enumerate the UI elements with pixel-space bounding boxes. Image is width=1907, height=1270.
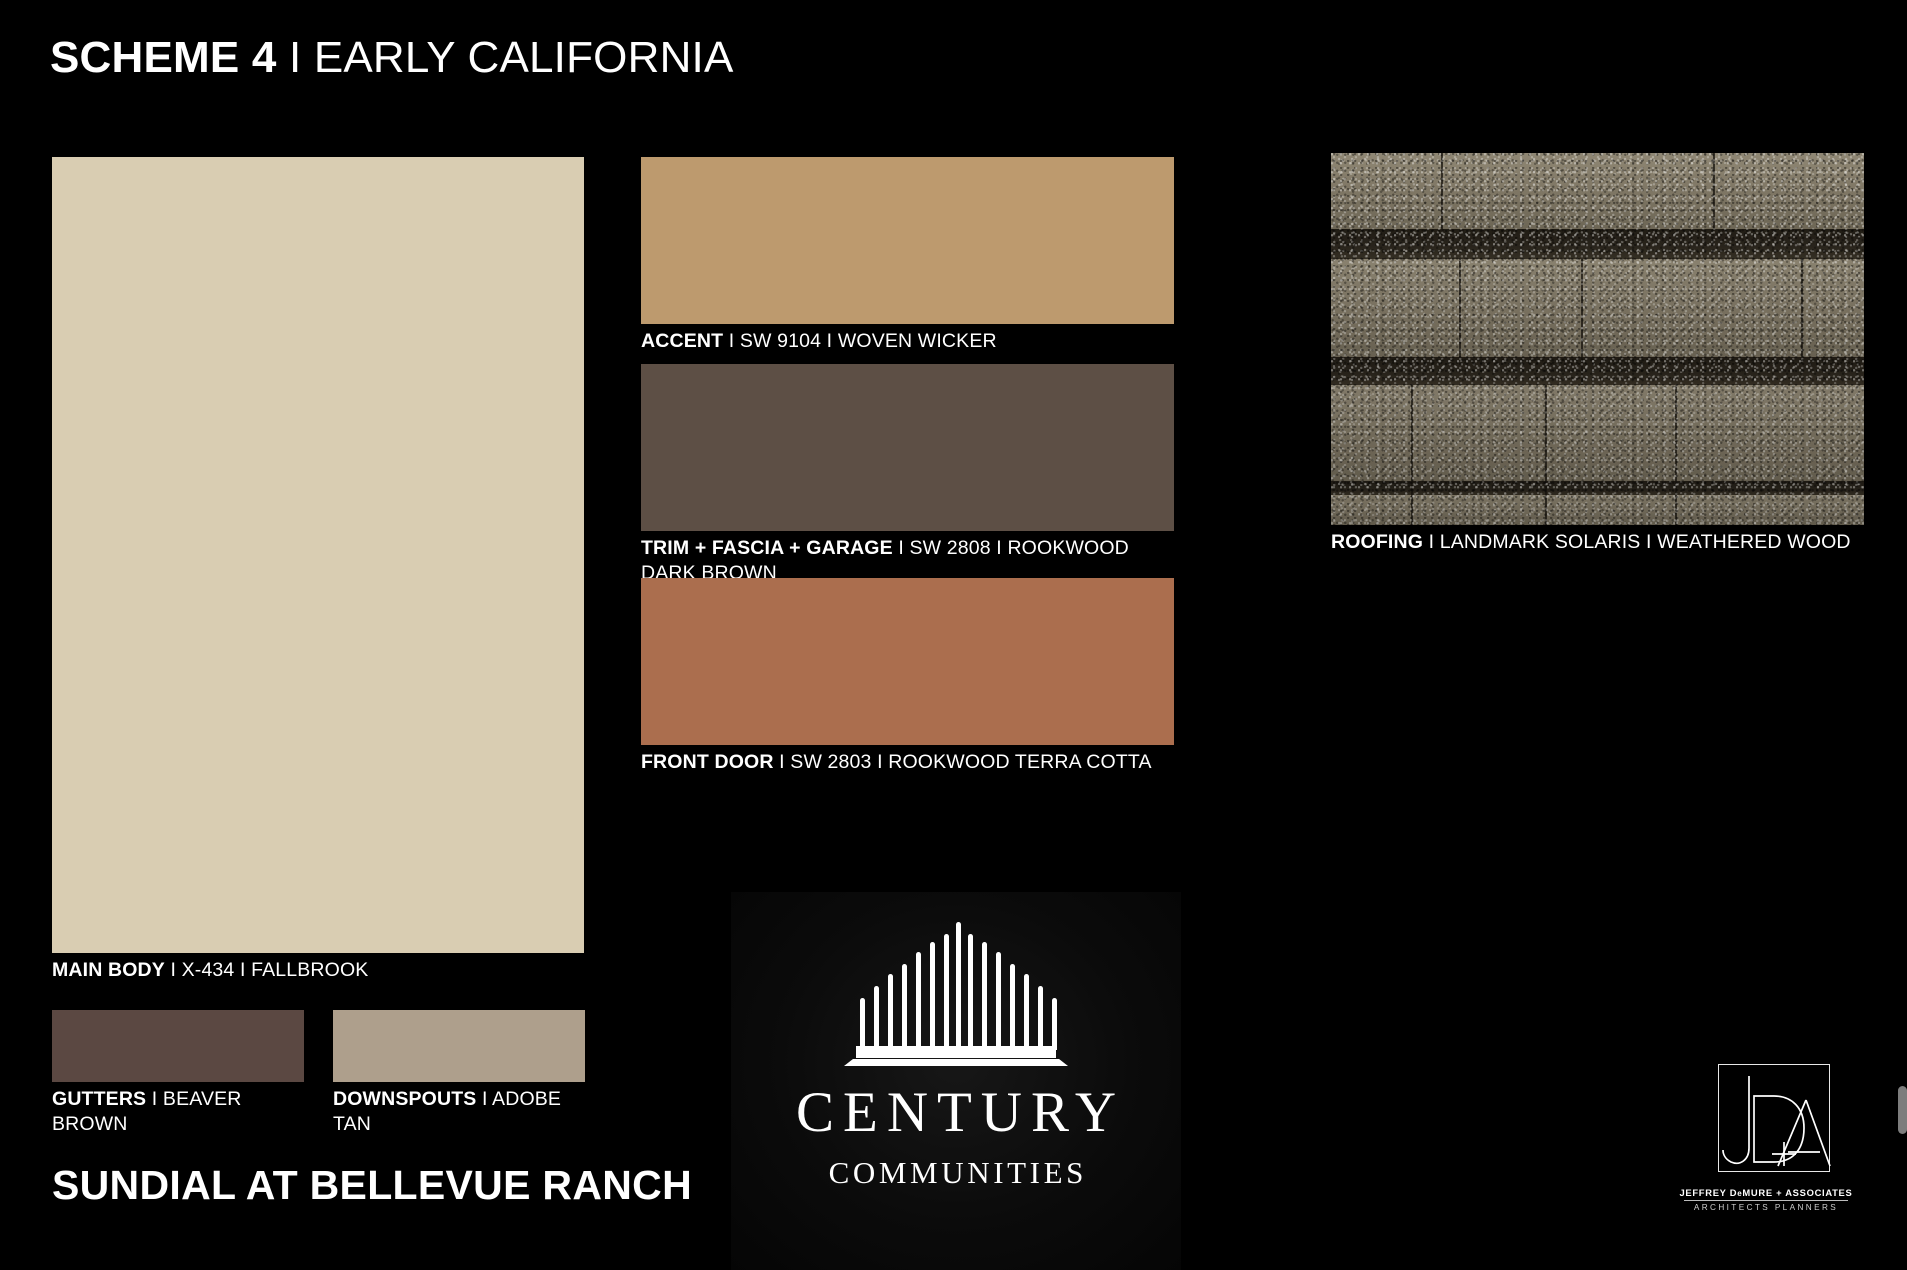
jda-monogram-icon bbox=[1696, 1062, 1836, 1182]
swatch-front-door[interactable]: FRONT DOOR I SW 2803 I ROOKWOOD TERRA CO… bbox=[641, 578, 1174, 775]
swatch-main-body[interactable]: MAIN BODY I X-434 I FALLBROOK bbox=[52, 157, 584, 983]
page-title: SCHEME 4 I EARLY CALIFORNIA bbox=[50, 33, 734, 83]
swatch-caption-main-body: MAIN BODY I X-434 I FALLBROOK bbox=[52, 953, 584, 983]
architect-discipline: ARCHITECTS PLANNERS bbox=[1668, 1203, 1864, 1212]
architect-firm-name: JEFFREY DeMURE + ASSOCIATES bbox=[1668, 1187, 1864, 1198]
architect-logo-jda: JEFFREY DeMURE + ASSOCIATES ARCHITECTS P… bbox=[1668, 1062, 1864, 1232]
caption-detail: I X-434 I FALLBROOK bbox=[165, 959, 369, 981]
swatch-caption-front-door: FRONT DOOR I SW 2803 I ROOKWOOD TERRA CO… bbox=[641, 745, 1174, 775]
swatch-downspouts[interactable]: DOWNSPOUTS I ADOBE TAN bbox=[333, 1010, 585, 1137]
swatch-caption-gutters: GUTTERS I BEAVER BROWN bbox=[52, 1082, 304, 1137]
swatch-trim-fascia-garage[interactable]: TRIM + FASCIA + GARAGE I SW 2808 I ROOKW… bbox=[641, 364, 1174, 586]
caption-role: GUTTERS bbox=[52, 1088, 146, 1110]
caption-role: ROOFING bbox=[1331, 531, 1423, 553]
swatch-chip-gutters bbox=[52, 1010, 304, 1082]
caption-role: ACCENT bbox=[641, 330, 723, 352]
divider bbox=[1684, 1200, 1848, 1201]
project-title: SUNDIAL AT BELLEVUE RANCH bbox=[52, 1162, 692, 1209]
caption-detail: I LANDMARK SOLARIS I WEATHERED WOOD bbox=[1423, 531, 1851, 553]
builder-logo-tagline: COMMUNITIES bbox=[825, 1157, 1087, 1188]
swatch-chip-trim bbox=[641, 364, 1174, 531]
swatch-chip-downspouts bbox=[333, 1010, 585, 1082]
swatch-accent[interactable]: ACCENT I SW 9104 I WOVEN WICKER bbox=[641, 157, 1174, 354]
capitol-dome-icon bbox=[842, 920, 1070, 1068]
swatch-roofing[interactable]: ROOFING I LANDMARK SOLARIS I WEATHERED W… bbox=[1331, 153, 1864, 555]
scheme-number: SCHEME 4 bbox=[50, 33, 277, 82]
swatch-chip-main-body bbox=[52, 157, 584, 953]
caption-detail: I SW 2803 I ROOKWOOD TERRA COTTA bbox=[774, 751, 1152, 773]
swatch-caption-accent: ACCENT I SW 9104 I WOVEN WICKER bbox=[641, 324, 1174, 354]
color-scheme-board: SCHEME 4 I EARLY CALIFORNIA MAIN BODY I … bbox=[0, 0, 1907, 1270]
swatch-caption-downspouts: DOWNSPOUTS I ADOBE TAN bbox=[333, 1082, 585, 1137]
swatch-chip-front-door bbox=[641, 578, 1174, 745]
title-separator: I bbox=[277, 33, 314, 82]
scrollbar-thumb[interactable] bbox=[1898, 1086, 1907, 1134]
swatch-chip-roofing-shingle-texture bbox=[1331, 153, 1864, 525]
swatch-caption-roofing: ROOFING I LANDMARK SOLARIS I WEATHERED W… bbox=[1331, 525, 1864, 555]
caption-role: FRONT DOOR bbox=[641, 751, 774, 773]
swatch-chip-accent bbox=[641, 157, 1174, 324]
firm-prefix: JEFFREY D bbox=[1680, 1187, 1738, 1198]
swatch-gutters[interactable]: GUTTERS I BEAVER BROWN bbox=[52, 1010, 304, 1137]
builder-logo-century-communities: CENTURY COMMUNITIES bbox=[731, 892, 1181, 1270]
builder-logo-name: CENTURY bbox=[787, 1084, 1125, 1141]
firm-suffix: MURE + ASSOCIATES bbox=[1742, 1187, 1852, 1198]
caption-detail: I SW 9104 I WOVEN WICKER bbox=[723, 330, 997, 352]
caption-role: TRIM + FASCIA + GARAGE bbox=[641, 537, 893, 559]
caption-role: DOWNSPOUTS bbox=[333, 1088, 476, 1110]
caption-role: MAIN BODY bbox=[52, 959, 165, 981]
scheme-name: EARLY CALIFORNIA bbox=[314, 33, 734, 82]
